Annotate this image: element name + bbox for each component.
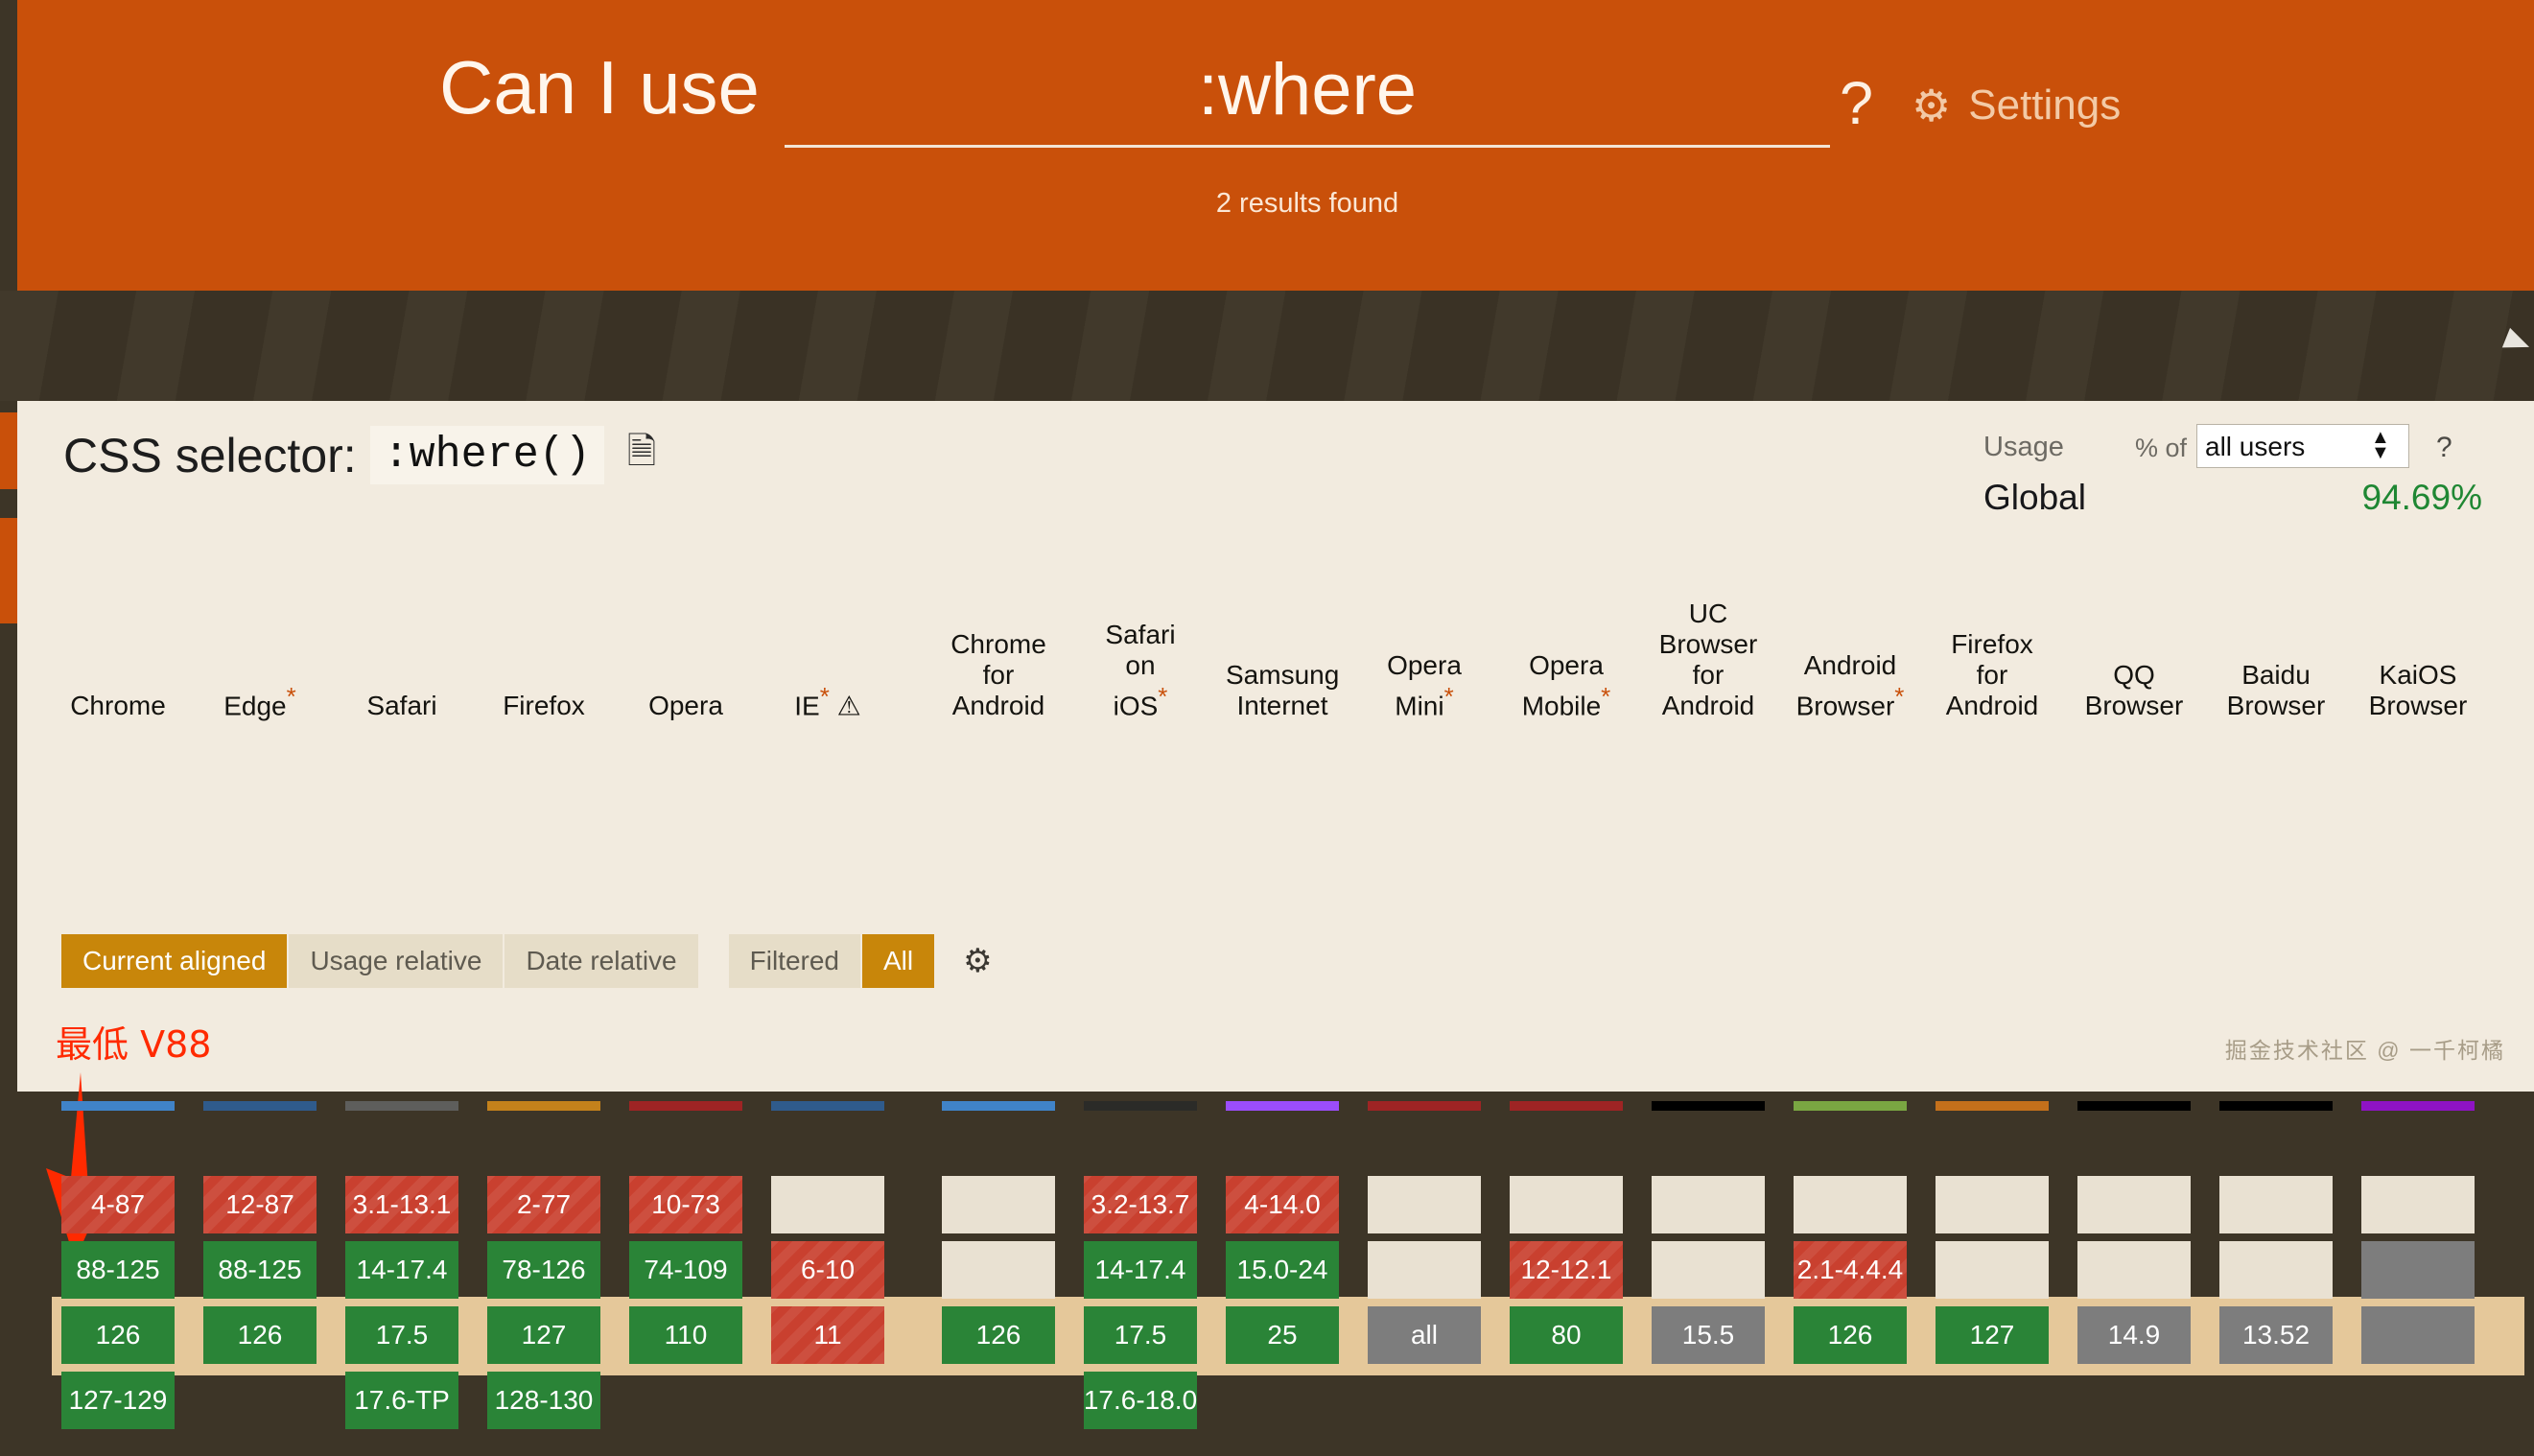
global-label: Global [1983,478,2086,518]
filter-usage-relative[interactable]: Usage relative [289,934,504,988]
browser-name-label: SafarioniOS* [1084,620,1197,721]
version-cell[interactable] [1652,1176,1765,1233]
browser-name-label: Safari [345,691,458,721]
version-cell[interactable]: 12-87 [203,1176,317,1233]
version-cell[interactable]: 127 [487,1306,600,1364]
browser-color-bar [1084,1101,1197,1111]
version-cell[interactable]: 88-125 [203,1241,317,1299]
browser-color-bar [2077,1101,2191,1111]
version-cell[interactable]: 110 [629,1306,742,1364]
browser-color-bar [487,1101,600,1111]
browser-color-bar [1368,1101,1481,1111]
browser-name-label: Opera [629,691,742,721]
version-cell[interactable]: 128-130 [487,1372,600,1429]
browser-name-label: OperaMobile* [1510,650,1623,721]
prefix-required-asterisk: * [1601,682,1610,711]
search-input[interactable] [785,42,1830,148]
usage-label: Usage [1983,432,2064,463]
support-table: Chrome4-8788-125126127-129Edge*12-8788-1… [61,1072,2517,1456]
global-usage-value: 94.69% [2290,478,2482,518]
usage-scope-select[interactable]: all userstracked desktop browsers [2196,424,2409,468]
header-left-edge [0,0,17,291]
browser-color-bar [629,1101,742,1111]
version-cell[interactable] [1510,1176,1623,1233]
browser-color-bar [345,1101,458,1111]
version-cell[interactable] [1368,1176,1481,1233]
browser-color-bar [1226,1101,1339,1111]
filter-all[interactable]: All [862,934,936,988]
browser-name-label: Chrome [61,691,175,721]
feature-code: :where() [370,426,604,484]
version-cell[interactable]: 126 [1794,1306,1907,1364]
version-cell[interactable]: 15.0-24 [1226,1241,1339,1299]
browser-name-label: BaiduBrowser [2219,660,2333,721]
version-cell[interactable]: 14-17.4 [1084,1241,1197,1299]
prefix-required-asterisk: * [1894,682,1904,711]
prefix-required-asterisk: * [1158,682,1167,711]
version-cell[interactable] [2361,1306,2475,1364]
browser-color-bar [1794,1101,1907,1111]
version-cell[interactable] [1794,1176,1907,1233]
version-cell[interactable]: 2.1-4.4.4 [1794,1241,1907,1299]
filter-date-relative[interactable]: Date relative [504,934,699,988]
version-cell[interactable] [2077,1176,2191,1233]
version-cell[interactable]: 3.2-13.7 [1084,1176,1197,1233]
version-cell[interactable]: 17.6-TP [345,1372,458,1429]
browser-color-bar [61,1101,175,1111]
version-cell[interactable]: 127 [1936,1306,2049,1364]
prefix-required-asterisk: * [287,682,296,711]
search-box[interactable] [785,42,1830,148]
version-cell[interactable] [1936,1176,2049,1233]
version-cell[interactable]: 4-87 [61,1176,175,1233]
version-cell[interactable] [1936,1241,2049,1299]
browser-columns: Chrome4-8788-125126127-129Edge*12-8788-1… [61,1072,2517,1456]
version-cell[interactable]: 10-73 [629,1176,742,1233]
browser-name-label: ChromeforAndroid [942,629,1055,721]
browser-name-label: AndroidBrowser* [1794,650,1907,721]
version-cell[interactable]: 13.52 [2219,1306,2333,1364]
browser-color-bar [942,1101,1055,1111]
version-cell[interactable]: 17.5 [345,1306,458,1364]
scope-segmented-control: FilteredAll [729,934,937,988]
annotation-text: 最低 V88 [56,1015,211,1068]
version-cell[interactable]: 15.5 [1652,1306,1765,1364]
version-cell[interactable]: 126 [942,1306,1055,1364]
header-inner: Can I use 2 results found ? ⚙ Settings [17,0,2534,291]
prefix-required-asterisk: * [1444,682,1454,711]
site-title: Can I use [439,44,760,131]
version-cell[interactable]: 74-109 [629,1241,742,1299]
browser-color-bar [203,1101,317,1111]
browser-color-bar [1510,1101,1623,1111]
version-cell[interactable]: 126 [61,1306,175,1364]
warning-icon: ⚠ [837,691,861,720]
browser-color-bar [1936,1101,2049,1111]
version-cell[interactable] [771,1176,884,1233]
usage-summary: Usage % of all userstracked desktop brow… [1974,422,2511,528]
table-settings-gear-icon[interactable]: ⚙ [963,942,992,980]
version-cell[interactable] [2077,1241,2191,1299]
feature-panel: CSS selector: :where() 🗎 Usage % of all … [17,401,2534,1092]
browser-color-bar [1652,1101,1765,1111]
version-cell[interactable] [2361,1241,2475,1299]
version-cell[interactable]: 25 [1226,1306,1339,1364]
version-cell[interactable]: 78-126 [487,1241,600,1299]
results-count: 2 results found [785,188,1830,220]
version-cell[interactable]: 14-17.4 [345,1241,458,1299]
version-cell[interactable]: 17.5 [1084,1306,1197,1364]
version-cell[interactable]: 2-77 [487,1176,600,1233]
version-cell[interactable] [1652,1241,1765,1299]
browser-name-label: KaiOSBrowser [2361,660,2475,721]
settings-button[interactable]: ⚙ Settings [1912,82,2121,129]
filter-current-aligned[interactable]: Current aligned [61,934,289,988]
version-cell[interactable]: all [1368,1306,1481,1364]
version-cell[interactable]: 3.1-13.1 [345,1176,458,1233]
spec-document-icon[interactable]: 🗎 [627,424,657,486]
watermark: 掘金技术社区 @ 一千柯橘 [2225,1032,2505,1065]
version-cell[interactable]: 127-129 [61,1372,175,1429]
page-background-band [0,291,2534,401]
browser-name-label: Edge* [203,681,317,721]
filter-filtered[interactable]: Filtered [729,934,862,988]
version-cell[interactable] [1368,1241,1481,1299]
browser-name-label: UCBrowserforAndroid [1652,599,1765,721]
percent-of-label: % of [2135,434,2187,463]
usage-help-icon[interactable]: ? [2436,432,2452,464]
browser-color-bar [2361,1101,2475,1111]
browser-name-label: IE* ⚠ [771,681,884,721]
filter-toolbar: Current alignedUsage relativeDate relati… [61,934,993,988]
gear-icon: ⚙ [1912,83,1951,128]
browser-name-label: Firefox [487,691,600,721]
browser-color-bar [771,1101,884,1111]
feature-label: CSS selector: [63,428,357,483]
site-header: Can I use 2 results found ? ⚙ Settings [0,0,2534,291]
version-cell[interactable]: 80 [1510,1306,1623,1364]
version-cell[interactable]: 88-125 [61,1241,175,1299]
feature-title: CSS selector: :where() 🗎 [63,424,656,486]
browser-color-bar [2219,1101,2333,1111]
browser-name-label: SamsungInternet [1226,660,1339,721]
version-cell[interactable]: 12-12.1 [1510,1241,1623,1299]
version-cell[interactable] [2219,1241,2333,1299]
version-cell[interactable] [942,1176,1055,1233]
version-cell[interactable]: 4-14.0 [1226,1176,1339,1233]
prefix-required-asterisk: * [820,682,830,711]
browser-name-label: QQBrowser [2077,660,2191,721]
settings-label: Settings [1968,82,2121,129]
help-icon[interactable]: ? [1840,69,1873,138]
browser-name-label: FirefoxforAndroid [1936,629,2049,721]
version-cell[interactable]: 6-10 [771,1241,884,1299]
version-cell[interactable] [942,1241,1055,1299]
version-cell[interactable]: 17.6-18.0 [1084,1372,1197,1429]
version-cell[interactable] [2361,1176,2475,1233]
alignment-segmented-control: Current alignedUsage relativeDate relati… [61,934,700,988]
browser-name-label: OperaMini* [1368,650,1481,721]
version-cell[interactable]: 11 [771,1306,884,1364]
version-cell[interactable] [2219,1176,2333,1233]
version-cell[interactable]: 126 [203,1306,317,1364]
version-cell[interactable]: 14.9 [2077,1306,2191,1364]
